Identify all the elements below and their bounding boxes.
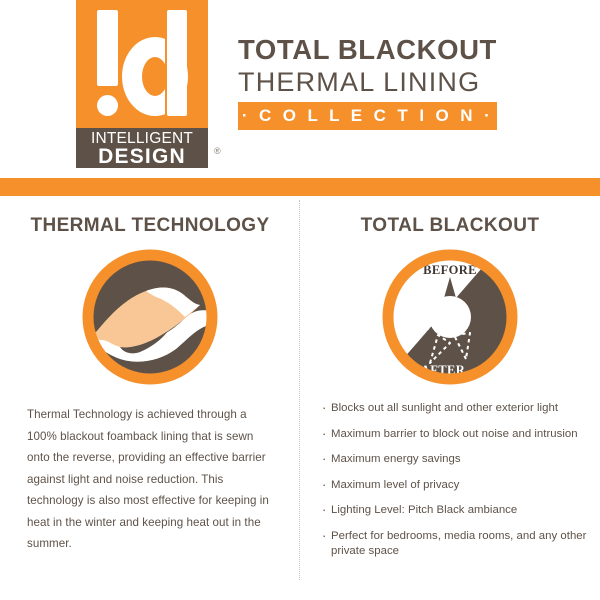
brand-logo: INTELLIGENT DESIGN ® (76, 0, 208, 168)
logo-mark-id-icon (76, 0, 208, 128)
list-item: Perfect for bedrooms, media rooms, and a… (322, 529, 597, 559)
list-item: Maximum level of privacy (322, 478, 597, 493)
panel-heading-thermal: THERMAL TECHNOLOGY (0, 215, 300, 237)
logo-exclamation-bar-icon (97, 10, 118, 86)
registered-trademark-icon: ® (214, 146, 221, 156)
list-item: Blocks out all sunlight and other exteri… (322, 401, 597, 416)
logo-exclamation-dot-icon (97, 95, 118, 116)
logo-letter-d-stem-icon (167, 10, 187, 116)
brand-name-line2: DESIGN (76, 145, 208, 168)
thermal-fabric-layers-svg (80, 247, 220, 387)
thermal-icon-wrap (0, 247, 300, 387)
header-title-secondary: THERMAL LINING (238, 66, 528, 99)
before-label: BEFORE (423, 263, 477, 277)
header-title-block: TOTAL BLACKOUT THERMAL LINING · C O L L … (238, 34, 528, 130)
blackout-feature-list: Blocks out all sunlight and other exteri… (322, 401, 597, 559)
thermal-fabric-layers-icon (80, 247, 220, 387)
panel-heading-blackout: TOTAL BLACKOUT (300, 215, 600, 237)
content-panels: THERMAL TECHNOLOGY Thermal Technology is… (0, 196, 600, 600)
header-collection-badge: · C O L L E C T I O N · (238, 102, 497, 130)
brand-name-plate: INTELLIGENT DESIGN (76, 128, 208, 168)
panel-thermal-technology: THERMAL TECHNOLOGY Thermal Technology is… (0, 196, 300, 600)
blackout-sun-before-after-icon: BEFORE AFTER (380, 247, 520, 387)
thermal-body-copy: Thermal Technology is achieved through a… (27, 404, 275, 555)
blackout-icon-wrap: BEFORE AFTER (300, 247, 600, 387)
list-item: Maximum barrier to block out noise and i… (322, 427, 597, 442)
page-header: INTELLIGENT DESIGN ® TOTAL BLACKOUT THER… (0, 0, 600, 178)
header-title-primary: TOTAL BLACKOUT (238, 34, 528, 66)
list-item: Lighting Level: Pitch Black ambiance (322, 503, 597, 518)
blackout-sun-svg: BEFORE AFTER (380, 247, 520, 387)
panel-total-blackout: TOTAL BLACKOUT (300, 196, 600, 600)
header-orange-rule (0, 178, 600, 196)
list-item: Maximum energy savings (322, 452, 597, 467)
